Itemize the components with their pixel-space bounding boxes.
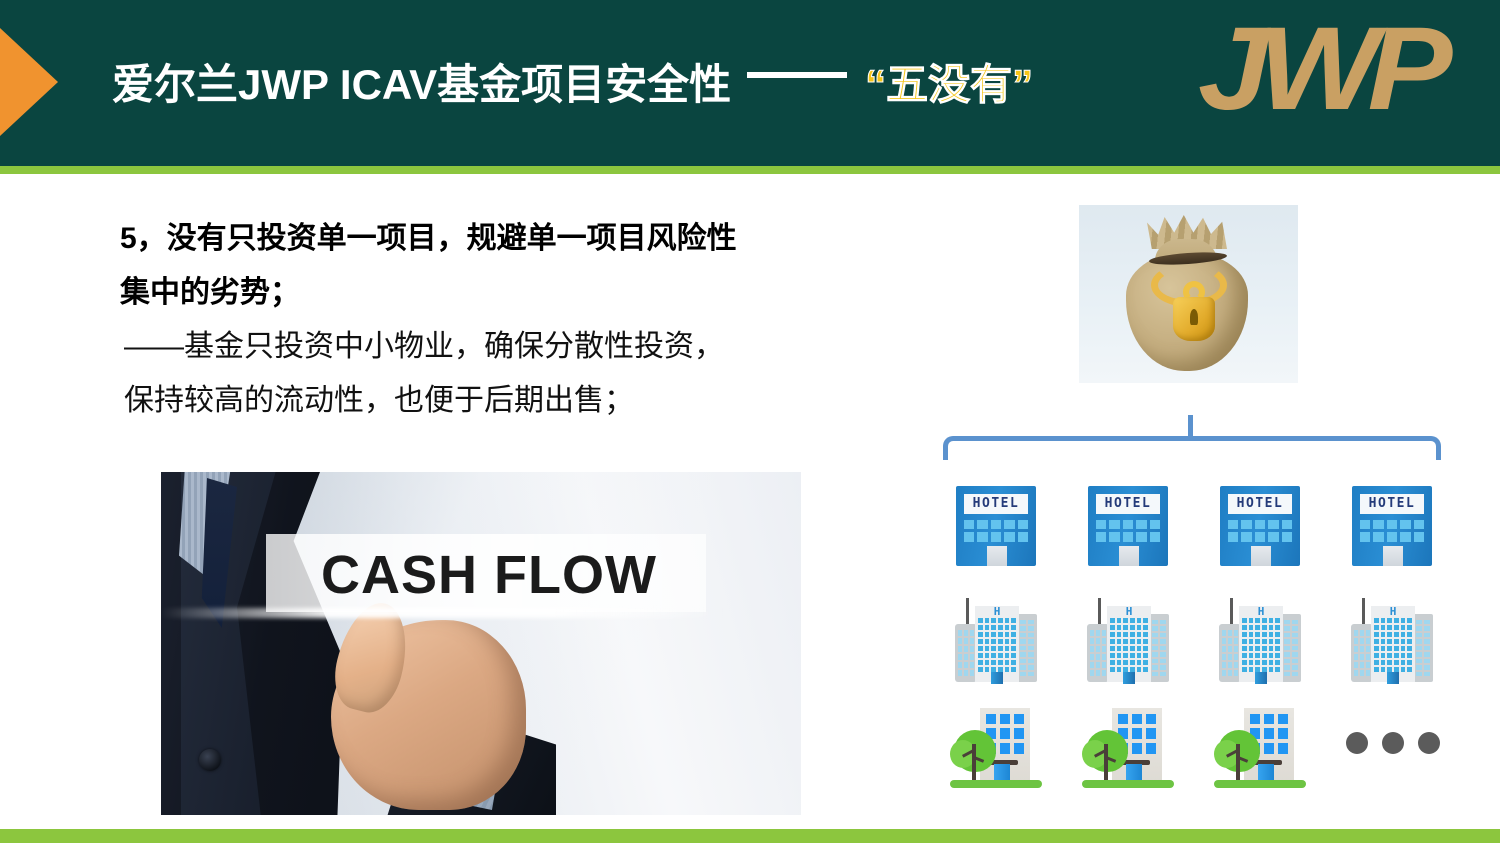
office-left-windows — [958, 630, 974, 676]
bracket-connector-icon — [943, 436, 1441, 460]
office-right-windows — [1152, 620, 1166, 676]
antenna — [966, 598, 969, 624]
building-entrance — [1126, 764, 1142, 782]
money-bag-image — [1079, 205, 1298, 383]
office-door — [1255, 672, 1267, 684]
office-sign-label: H — [1371, 605, 1415, 618]
antenna — [1230, 598, 1233, 624]
three-dots-icon — [1346, 732, 1440, 754]
office-cell: H — [1340, 592, 1444, 688]
dot — [1346, 732, 1368, 754]
office-cell: H — [1208, 592, 1312, 688]
hotel-sign-label: HOTEL — [964, 494, 1028, 514]
office-building-icon: H — [1347, 594, 1437, 686]
page-title-main: 爱尔兰JWP ICAV基金项目安全性 — [112, 51, 731, 112]
title-dash-icon — [747, 72, 847, 78]
content-text-block: 5，没有只投资单一项目，规避单一项目风险性 集中的劣势； ——基金只投资中小物业… — [120, 212, 860, 428]
ground-strip — [1214, 780, 1306, 788]
hotel-sign-label: HOTEL — [1228, 494, 1292, 514]
hotel-sign-label: HOTEL — [1096, 494, 1160, 514]
header-accent-bar — [0, 166, 1500, 174]
hotel-windows — [1360, 520, 1424, 542]
photo-light-glint — [161, 608, 721, 618]
office-building-icon: H — [951, 594, 1041, 686]
ellipsis-cell — [1340, 700, 1444, 796]
hotel-icon: HOTEL — [1352, 486, 1432, 566]
hotel-icon: HOTEL — [1088, 486, 1168, 566]
heading-line-2: 集中的劣势； — [120, 266, 860, 320]
antenna — [1098, 598, 1101, 624]
hotel-windows — [964, 520, 1028, 542]
hotel-windows — [1228, 520, 1292, 542]
office-main-windows — [1374, 618, 1412, 672]
hotel-cell: HOTEL — [1208, 480, 1312, 576]
hotel-cell: HOTEL — [1340, 480, 1444, 576]
building-with-tree-icon — [1214, 704, 1306, 792]
office-main-windows — [1242, 618, 1280, 672]
office-right-windows — [1416, 620, 1430, 676]
footer-accent-bar — [0, 829, 1500, 843]
heading-line-1: 5，没有只投资单一项目，规避单一项目风险性 — [120, 212, 860, 266]
hotel-door — [1383, 546, 1403, 566]
building-tree-cell — [1208, 700, 1312, 796]
office-right-windows — [1284, 620, 1298, 676]
office-door — [1123, 672, 1135, 684]
jwp-logo: JWP — [1198, 10, 1442, 128]
hotel-cell: HOTEL — [944, 480, 1048, 576]
ground-strip — [950, 780, 1042, 788]
building-tree-cell — [1076, 700, 1180, 796]
office-cell: H — [944, 592, 1048, 688]
building-with-tree-icon — [950, 704, 1042, 792]
office-main-windows — [1110, 618, 1148, 672]
office-sign-label: H — [1239, 605, 1283, 618]
office-door — [991, 672, 1003, 684]
cash-flow-caption: CASH FLOW — [321, 544, 657, 606]
office-cell: H — [1076, 592, 1180, 688]
property-diagram-grid: HOTEL HOTEL HOTEL HOTEL — [930, 470, 1460, 800]
cash-flow-image: CASH FLOW — [161, 472, 801, 815]
antenna — [1362, 598, 1365, 624]
body-line-2: 保持较高的流动性，也便于后期出售； — [120, 374, 860, 428]
hotel-door — [1119, 546, 1139, 566]
office-right-windows — [1020, 620, 1034, 676]
office-sign-label: H — [975, 605, 1019, 618]
page-title-quote: “五没有” — [865, 51, 1033, 112]
building-with-tree-icon — [1082, 704, 1174, 792]
slide-canvas: 爱尔兰JWP ICAV基金项目安全性 “五没有” JWP 5，没有只投资单一项目… — [0, 0, 1500, 843]
hotel-windows — [1096, 520, 1160, 542]
hotel-door — [987, 546, 1007, 566]
ground-strip — [1082, 780, 1174, 788]
page-title: 爱尔兰JWP ICAV基金项目安全性 “五没有” — [112, 42, 1033, 120]
hotel-door — [1251, 546, 1271, 566]
office-building-icon: H — [1083, 594, 1173, 686]
office-sign-label: H — [1107, 605, 1151, 618]
photo-suit-button — [199, 749, 221, 771]
body-line-1: ——基金只投资中小物业，确保分散性投资， — [120, 320, 860, 374]
building-entrance — [994, 764, 1010, 782]
office-building-icon: H — [1215, 594, 1305, 686]
office-left-windows — [1354, 630, 1370, 676]
hotel-icon: HOTEL — [1220, 486, 1300, 566]
office-door — [1387, 672, 1399, 684]
building-tree-cell — [944, 700, 1048, 796]
building-entrance — [1258, 764, 1274, 782]
office-left-windows — [1090, 630, 1106, 676]
dot — [1382, 732, 1404, 754]
office-main-windows — [978, 618, 1016, 672]
hotel-cell: HOTEL — [1076, 480, 1180, 576]
hotel-sign-label: HOTEL — [1360, 494, 1424, 514]
dot — [1418, 732, 1440, 754]
keyhole-icon — [1190, 309, 1198, 325]
office-left-windows — [1222, 630, 1238, 676]
hotel-icon: HOTEL — [956, 486, 1036, 566]
